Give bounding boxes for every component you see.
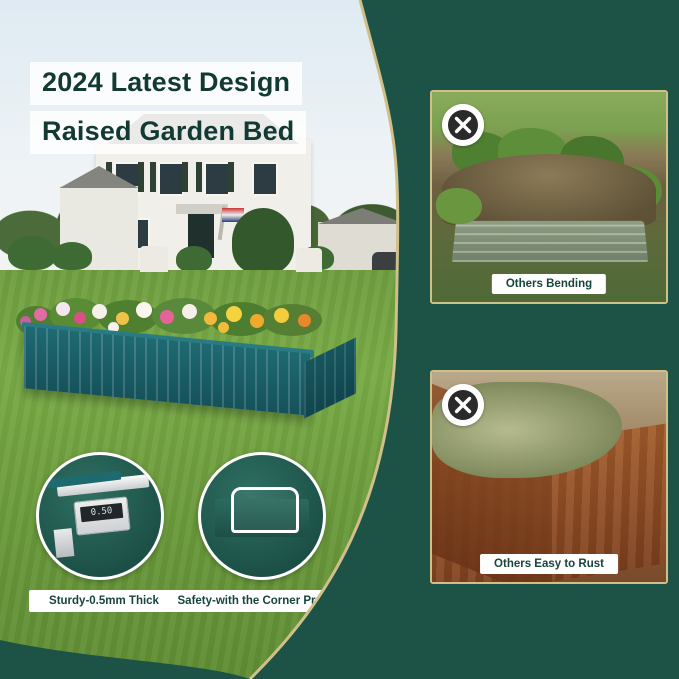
- house-shutter: [196, 162, 202, 192]
- patio-chair: [140, 246, 168, 272]
- house-shutter: [182, 162, 188, 192]
- house-window: [252, 162, 278, 196]
- caliper-reading: 0.50: [80, 503, 123, 522]
- house-window: [204, 162, 230, 196]
- corner-protector-icon: [198, 452, 326, 580]
- feature-thickness-caption: Sturdy-0.5mm Thick: [29, 590, 179, 612]
- feature-corner-caption: Safety-with the Corner Protector: [169, 590, 363, 612]
- product-infographic: 2024 Latest Design Raised Garden Bed 0.5…: [0, 0, 679, 679]
- house-window: [158, 162, 184, 196]
- headline-block: 2024 Latest Design Raised Garden Bed: [30, 62, 382, 160]
- house-shutter: [150, 162, 156, 192]
- comparison-card-bending: Others Bending: [430, 90, 668, 304]
- tree: [232, 208, 294, 274]
- feature-corner-protector: Safety-with the Corner Protector: [196, 452, 328, 612]
- comparison-label-bending: Others Bending: [492, 274, 606, 294]
- comparison-card-rust: Others Easy to Rust: [430, 370, 668, 584]
- shrub: [176, 246, 212, 272]
- porch-roof: [176, 204, 228, 214]
- x-mark-icon: [442, 384, 484, 426]
- feature-thickness: 0.50 Sturdy-0.5mm Thick: [34, 452, 166, 612]
- caliper-icon: 0.50: [36, 452, 164, 580]
- headline-line-2: Raised Garden Bed: [30, 111, 306, 154]
- bed-front-panel: [24, 326, 310, 416]
- x-mark-icon: [442, 104, 484, 146]
- shrub: [52, 242, 92, 270]
- house-shutter: [138, 162, 144, 192]
- shrub: [8, 236, 56, 270]
- headline-line-1: 2024 Latest Design: [30, 62, 302, 105]
- patio-chair: [296, 248, 322, 272]
- hero-photo-panel: 2024 Latest Design Raised Garden Bed 0.5…: [0, 0, 420, 679]
- house-shutter: [228, 162, 234, 192]
- raised-garden-bed-product: [24, 322, 354, 406]
- comparison-label-rust: Others Easy to Rust: [480, 554, 618, 574]
